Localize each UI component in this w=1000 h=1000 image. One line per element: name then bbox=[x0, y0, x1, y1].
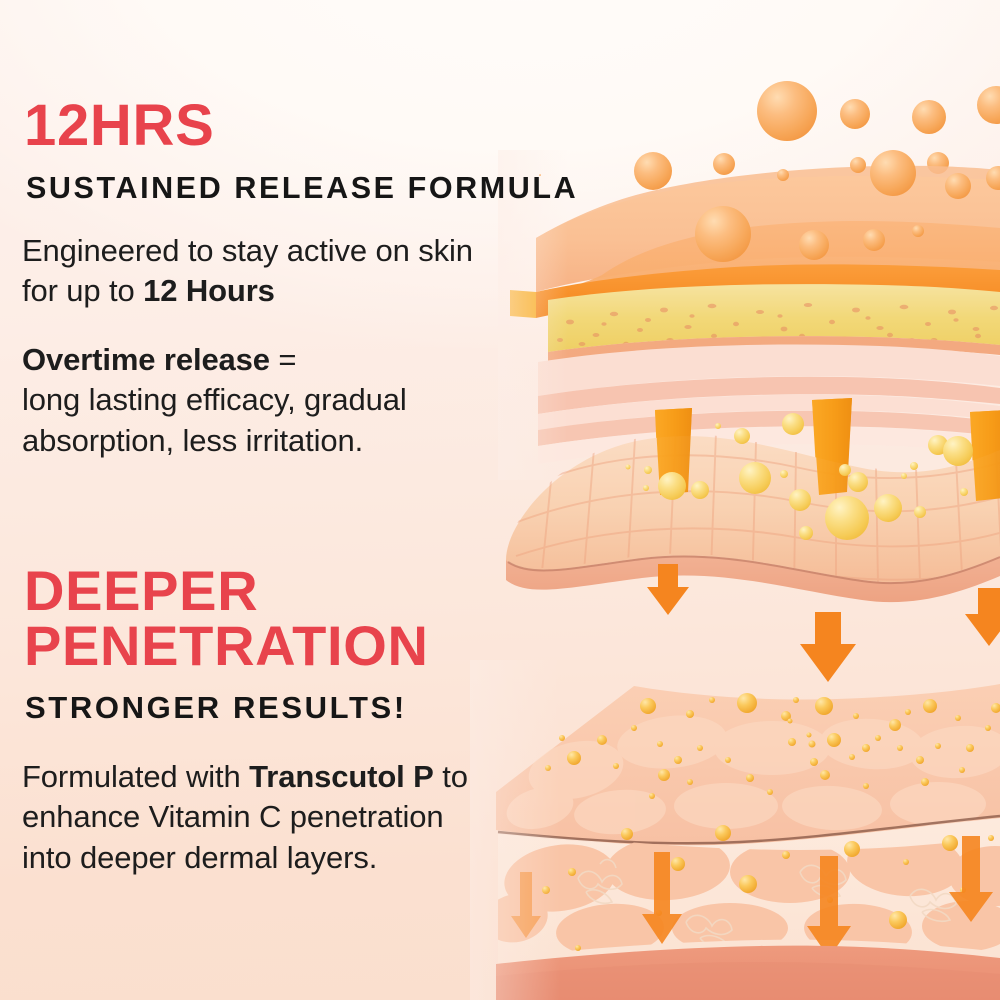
headline-12hrs: 12HRS bbox=[24, 98, 214, 155]
para3-line1-lead: Formulated with bbox=[22, 759, 249, 794]
paragraph-overtime-release: Overtime release = long lasting efficacy… bbox=[22, 340, 542, 461]
para3-line1-bold: Transcutol P bbox=[249, 759, 434, 794]
subhead-stronger-results: STRONGER RESULTS! bbox=[25, 692, 407, 725]
para2-bold-lead: Overtime release bbox=[22, 342, 270, 377]
subhead-sustained-release-formula: SUSTAINED RELEASE FORMULA bbox=[26, 172, 578, 204]
paragraph-transcutol: Formulated with Transcutol P to enhance … bbox=[22, 757, 542, 878]
para2-equals: = bbox=[270, 342, 296, 377]
paragraph-sustained-release: Engineered to stay active on skin for up… bbox=[22, 231, 562, 312]
para3-line1-tail: to bbox=[434, 759, 468, 794]
poster-canvas: 12HRS SUSTAINED RELEASE FORMULA Engineer… bbox=[0, 0, 1000, 1000]
para1-line2-lead: for up to bbox=[22, 273, 143, 308]
para2-line2: long lasting efficacy, gradual bbox=[22, 382, 407, 417]
para1-line1: Engineered to stay active on skin bbox=[22, 233, 473, 268]
para2-line3: absorption, less irritation. bbox=[22, 423, 363, 458]
copy-column: 12HRS SUSTAINED RELEASE FORMULA Engineer… bbox=[0, 0, 1000, 1000]
headline-line-deeper: DEEPER bbox=[24, 559, 258, 622]
headline-deeper-penetration: DEEPER PENETRATION bbox=[24, 564, 584, 674]
para3-line3: into deeper dermal layers. bbox=[22, 840, 377, 875]
headline-line-penetration: PENETRATION bbox=[24, 614, 429, 677]
para3-line2: enhance Vitamin C penetration bbox=[22, 799, 444, 834]
para1-line2-bold: 12 Hours bbox=[143, 273, 275, 308]
